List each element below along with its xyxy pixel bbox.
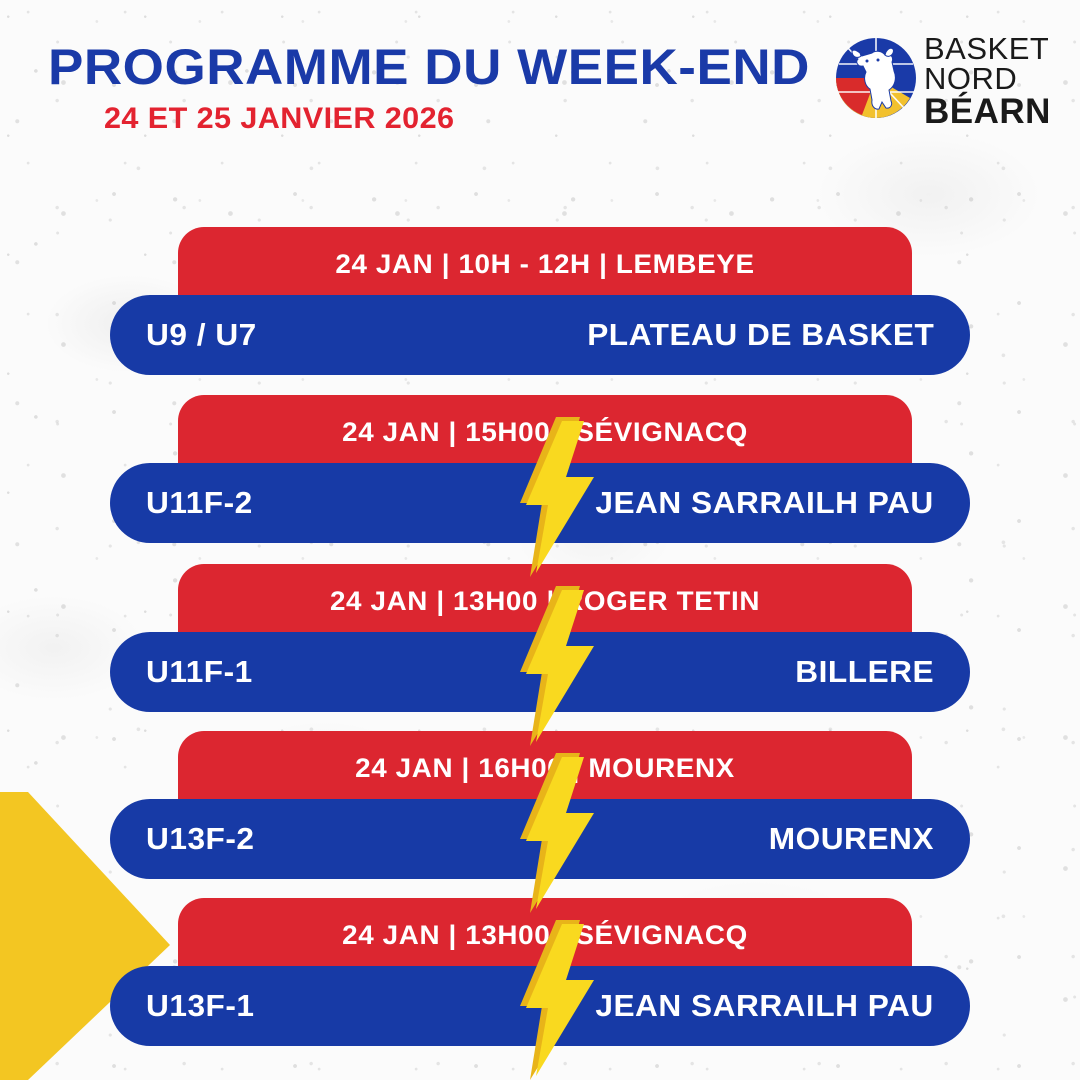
- match-info-text: 24 JAN | 13H00 | ROGER TETIN: [167, 586, 923, 617]
- match-teams-bar: U9 / U7 PLATEAU DE BASKET: [110, 295, 970, 375]
- header: PROGRAMME DU WEEK-END 24 ET 25 JANVIER 2…: [0, 0, 1080, 160]
- match-category: U13F-2: [146, 799, 255, 879]
- match-teams-bar: U11F-2 JEAN SARRAILH PAU: [110, 463, 970, 543]
- match-opponent: MOURENX: [769, 799, 934, 879]
- match-info-text: 24 JAN | 13H00 | SÉVIGNACQ: [167, 920, 923, 951]
- page-subtitle: 24 ET 25 JANVIER 2026: [104, 102, 454, 136]
- match-teams-bar: U13F-2 MOURENX: [110, 799, 970, 879]
- match-opponent: BILLERE: [795, 632, 934, 712]
- match-category: U13F-1: [146, 966, 255, 1046]
- match-info-text: 24 JAN | 10H - 12H | LEMBEYE: [167, 249, 923, 280]
- match-opponent: JEAN SARRAILH PAU: [596, 463, 934, 543]
- match-category: U9 / U7: [146, 295, 257, 375]
- match-info-text: 24 JAN | 15H00 | SÉVIGNACQ: [167, 417, 923, 448]
- match-teams-bar: U11F-1 BILLERE: [110, 632, 970, 712]
- match-list: 24 JAN | 10H - 12H | LEMBEYE U9 / U7 PLA…: [0, 0, 1080, 1080]
- poster-root: PROGRAMME DU WEEK-END 24 ET 25 JANVIER 2…: [0, 0, 1080, 1080]
- match-category: U11F-1: [146, 632, 253, 712]
- match-teams-bar: U13F-1 JEAN SARRAILH PAU: [110, 966, 970, 1046]
- match-info-text: 24 JAN | 16H00 | MOURENX: [167, 753, 923, 784]
- match-opponent: PLATEAU DE BASKET: [587, 295, 934, 375]
- match-category: U11F-2: [146, 463, 253, 543]
- match-opponent: JEAN SARRAILH PAU: [596, 966, 934, 1046]
- page-title: PROGRAMME DU WEEK-END: [48, 38, 810, 96]
